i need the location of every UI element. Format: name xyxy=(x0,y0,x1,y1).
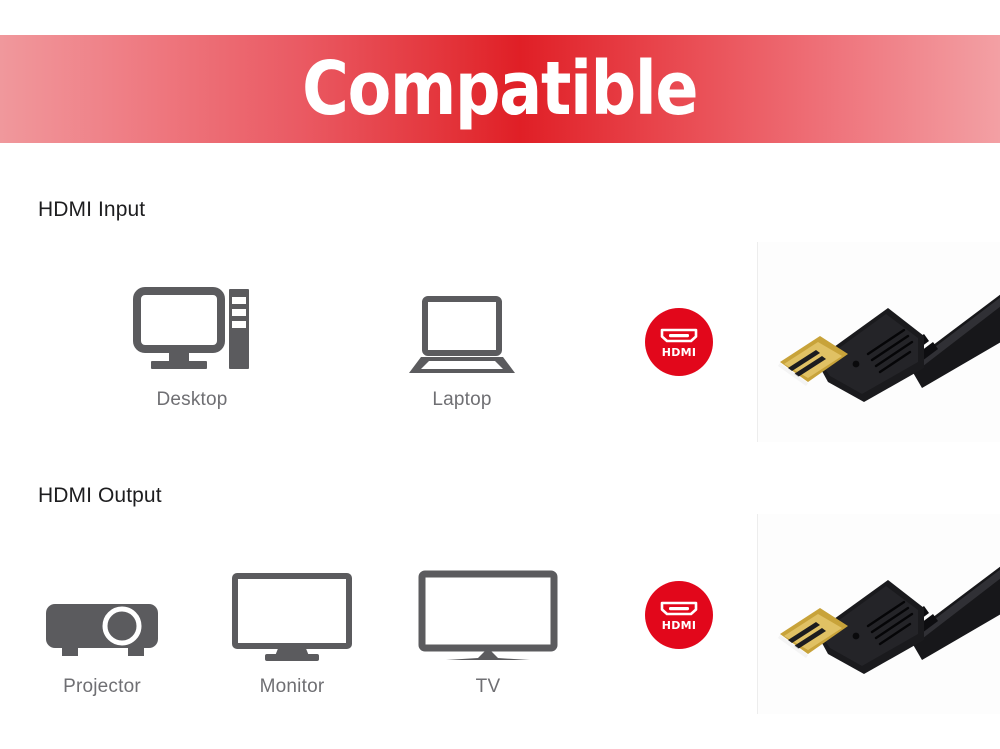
page-banner: Compatible xyxy=(0,35,1000,143)
hdmi-cable-photo-output xyxy=(757,514,1000,714)
device-label-laptop: Laptop xyxy=(382,389,542,411)
hdmi-connector-icon xyxy=(659,600,699,617)
device-item-desktop: Desktop xyxy=(112,275,272,411)
device-label-monitor: Monitor xyxy=(212,676,372,698)
device-item-monitor: Monitor xyxy=(212,562,372,698)
laptop-icon xyxy=(382,275,542,375)
hdmi-badge-label-output: HDMI xyxy=(662,620,697,631)
hdmi-badge-output: HDMI xyxy=(645,581,713,649)
section-heading-hdmi-input: HDMI Input xyxy=(38,198,145,222)
device-item-projector: Projector xyxy=(22,562,182,698)
tv-icon xyxy=(408,562,568,662)
desktop-computer-icon xyxy=(112,275,272,375)
projector-icon xyxy=(22,562,182,662)
page-title: Compatible xyxy=(302,52,697,126)
hdmi-badge-input: HDMI xyxy=(645,308,713,376)
device-label-desktop: Desktop xyxy=(112,389,272,411)
device-item-tv: TV xyxy=(408,562,568,698)
hdmi-cable-photo-input xyxy=(757,242,1000,442)
device-label-tv: TV xyxy=(408,676,568,698)
device-item-laptop: Laptop xyxy=(382,275,542,411)
hdmi-badge-label-input: HDMI xyxy=(662,347,697,358)
device-label-projector: Projector xyxy=(22,676,182,698)
section-heading-hdmi-output: HDMI Output xyxy=(38,484,162,508)
monitor-icon xyxy=(212,562,372,662)
hdmi-connector-icon xyxy=(659,327,699,344)
